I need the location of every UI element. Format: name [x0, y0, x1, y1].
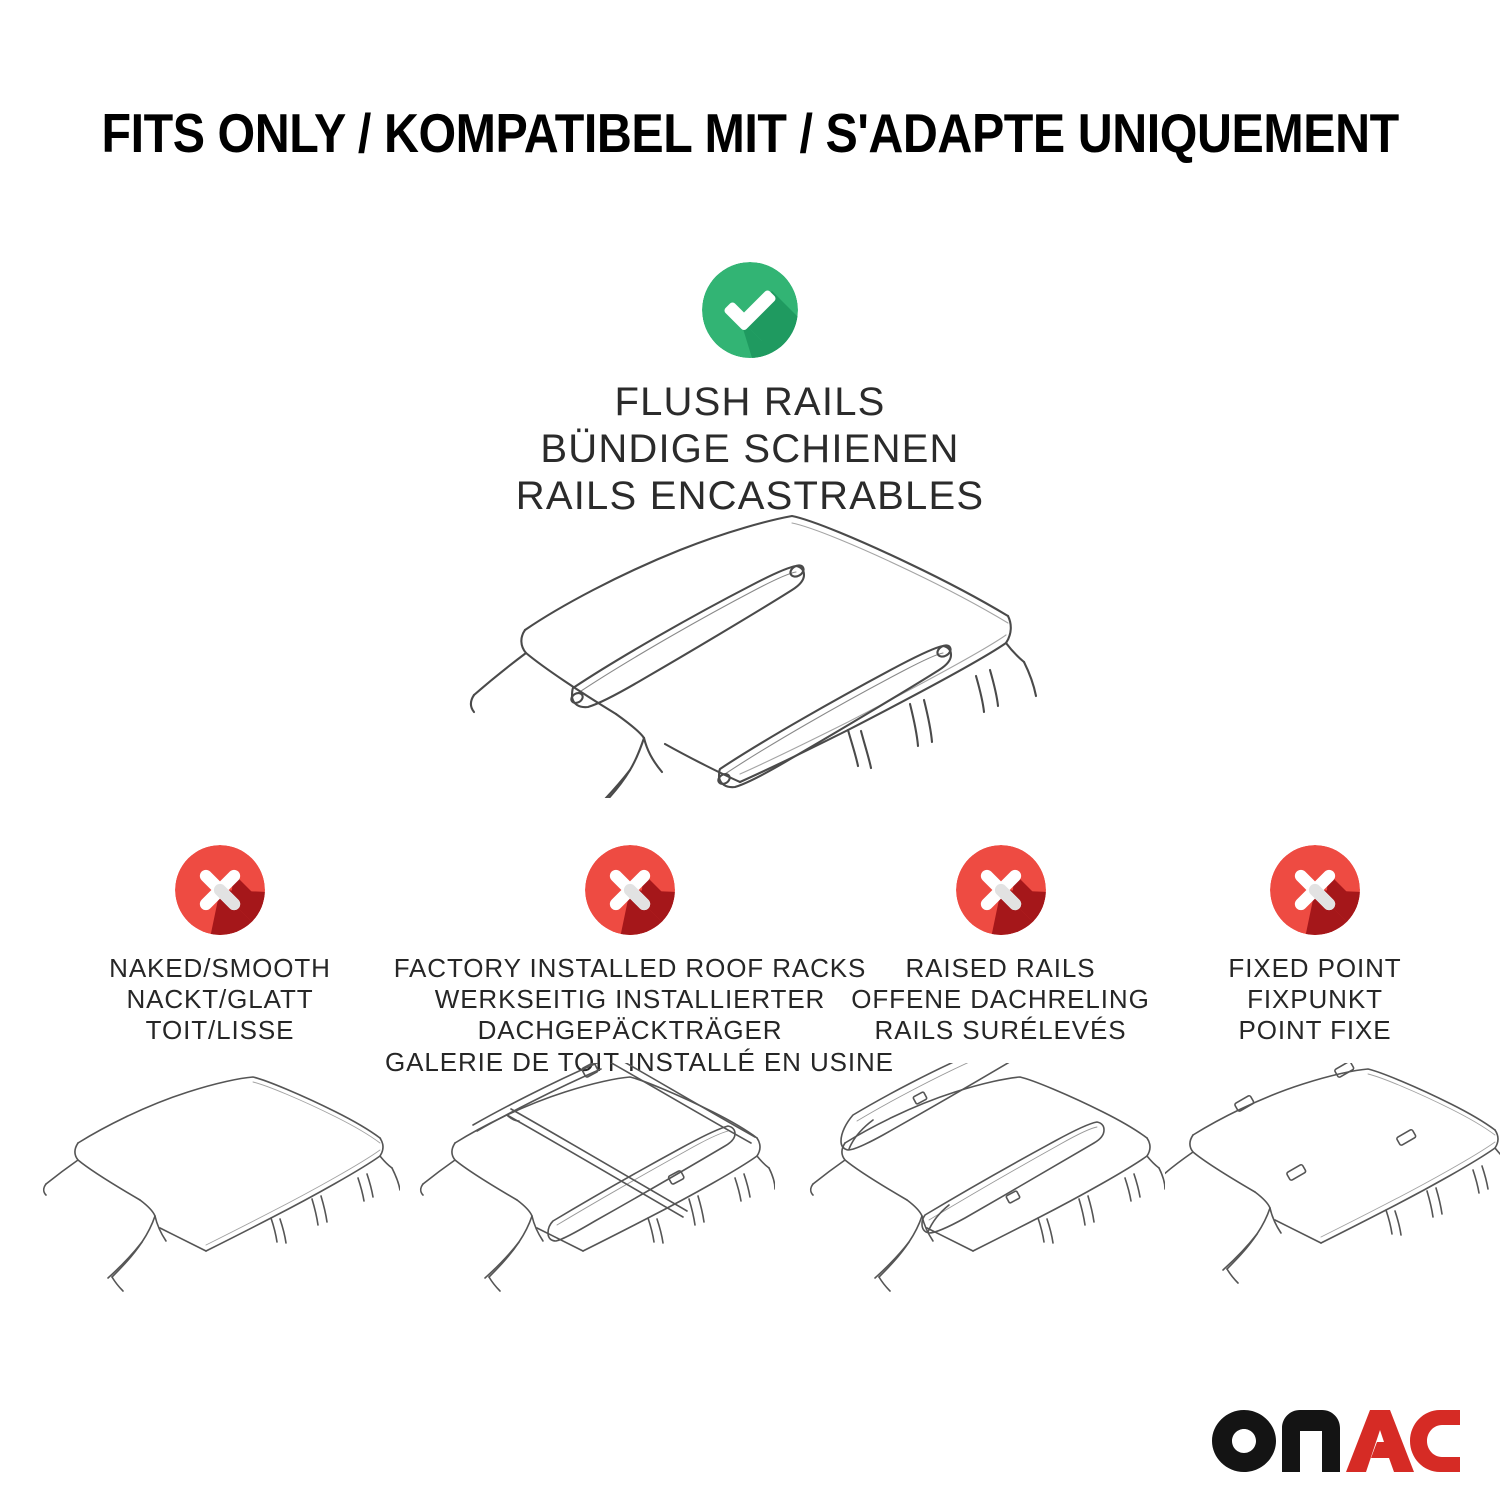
rejected-label-de: OFFENE DACHRELING: [838, 984, 1163, 1015]
rejected-item-factory-installed-roof-racks: FACTORY INSTALLED ROOF RACKS WERKSEITIG …: [385, 845, 875, 1078]
x-circle-icon: [956, 845, 1046, 935]
car-roof-raised-rails-illustration: [805, 1063, 1165, 1293]
omac-logo: OMAC: [1212, 1410, 1460, 1472]
rejected-label-fr: POINT FIXE: [1165, 1015, 1465, 1046]
rejected-item-naked-smooth: NAKED/SMOOTH NACKT/GLATT TOIT/LISSE: [55, 845, 385, 1047]
rejected-label-fr: TOIT/LISSE: [55, 1015, 385, 1046]
rejected-label-de-1: WERKSEITIG INSTALLIERTER: [385, 984, 875, 1015]
car-roof-fixed-point-illustration: [1165, 1063, 1500, 1293]
rejected-labels: NAKED/SMOOTH NACKT/GLATT TOIT/LISSE: [55, 953, 385, 1047]
x-circle-icon: [175, 845, 265, 935]
car-roof-naked-illustration: [40, 1065, 400, 1295]
car-roof-factory-racks-illustration: [415, 1063, 775, 1293]
approved-label-de: BÜNDIGE SCHIENEN: [0, 426, 1500, 473]
rejected-label-en: RAISED RAILS: [838, 953, 1163, 984]
x-circle-icon: [585, 845, 675, 935]
rejected-label-fr: RAILS SURÉLEVÉS: [838, 1015, 1163, 1046]
rejected-labels: RAISED RAILS OFFENE DACHRELING RAILS SUR…: [838, 953, 1163, 1047]
brand-name: OMAC: [1212, 1472, 1213, 1473]
rejected-label-de: NACKT/GLATT: [55, 984, 385, 1015]
car-roof-flush-rails-illustration: [440, 498, 1080, 798]
page-title-text: FITS ONLY / KOMPATIBEL MIT / S'ADAPTE UN…: [101, 106, 1398, 161]
compatibility-infographic: FITS ONLY / KOMPATIBEL MIT / S'ADAPTE UN…: [0, 0, 1500, 1500]
rejected-labels: FIXED POINT FIXPUNKT POINT FIXE: [1165, 953, 1465, 1047]
rejected-labels: FACTORY INSTALLED ROOF RACKS WERKSEITIG …: [385, 953, 875, 1078]
rejected-label-en: FIXED POINT: [1165, 953, 1465, 984]
approved-label-en: FLUSH RAILS: [0, 379, 1500, 426]
rejected-label-de: FIXPUNKT: [1165, 984, 1465, 1015]
x-circle-icon: [1270, 845, 1360, 935]
rejected-label-en: NAKED/SMOOTH: [55, 953, 385, 984]
rejected-label-de-2: DACHGEPÄCKTRÄGER: [385, 1015, 875, 1046]
check-circle-icon: [702, 262, 798, 358]
rejected-label-en: FACTORY INSTALLED ROOF RACKS: [385, 953, 875, 984]
rejected-item-raised-rails: RAISED RAILS OFFENE DACHRELING RAILS SUR…: [838, 845, 1163, 1047]
approved-group: FLUSH RAILS BÜNDIGE SCHIENEN RAILS ENCAS…: [0, 262, 1500, 521]
page-title: FITS ONLY / KOMPATIBEL MIT / S'ADAPTE UN…: [0, 106, 1500, 161]
rejected-item-fixed-point: FIXED POINT FIXPUNKT POINT FIXE: [1165, 845, 1465, 1047]
